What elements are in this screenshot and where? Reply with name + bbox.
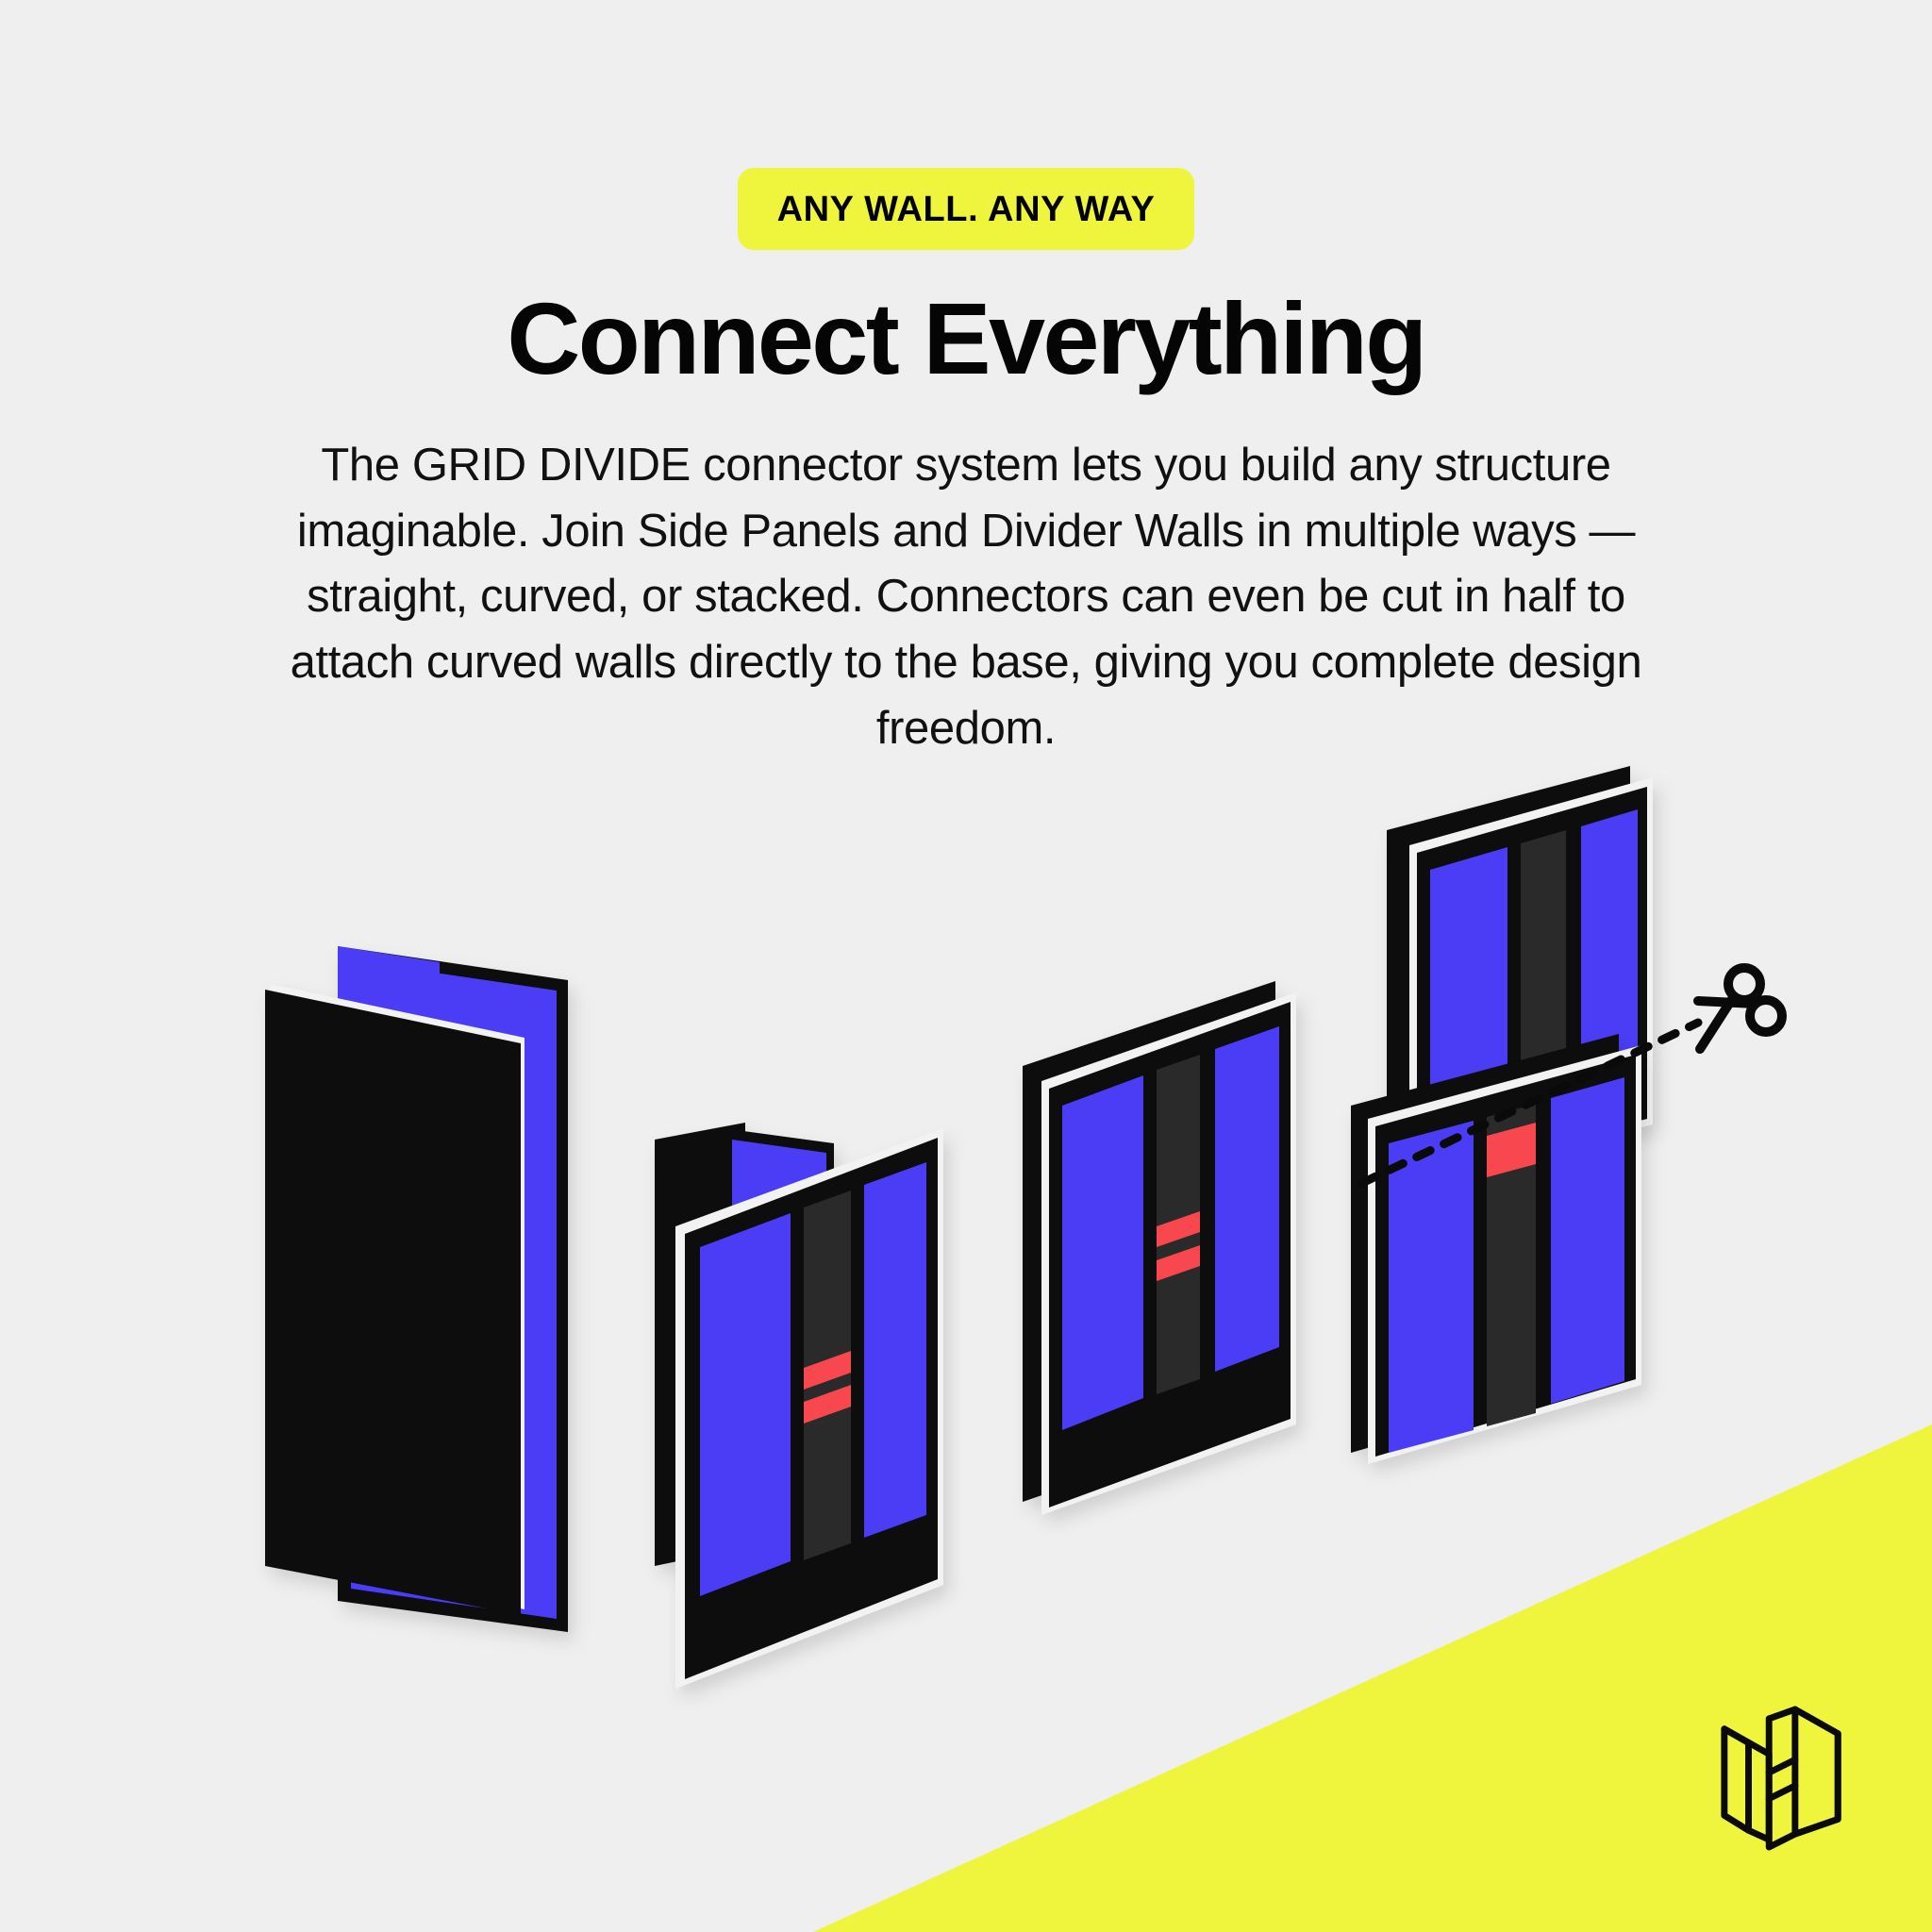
group4-upper-connector-strip <box>1521 830 1566 1151</box>
group4-lower-back-panel <box>1351 1034 1619 1453</box>
group4-upper-half <box>1387 766 1653 1185</box>
group3-red-marker-1 <box>1157 1211 1200 1247</box>
illustration-group-cut-connector <box>1351 766 1782 1464</box>
group3-panel-edge-highlight <box>1041 992 1296 1515</box>
group3-panel-frame <box>1049 1002 1291 1507</box>
illustration-group-stacked-panels <box>1023 981 1296 1515</box>
page-description: The GRID DIVIDE connector system lets yo… <box>277 433 1655 761</box>
group4-upper-edge-highlight <box>1409 777 1653 1185</box>
illustration-group-corner-joint <box>265 946 568 1632</box>
eyebrow-badge: ANY WALL. ANY WAY <box>738 168 1195 250</box>
group2-red-marker-2 <box>804 1385 851 1424</box>
header-block: ANY WALL. ANY WAY Connect Everything The… <box>0 0 1932 761</box>
group4-upper-back-panel <box>1387 766 1630 1170</box>
grid-divide-logo <box>1715 1700 1855 1858</box>
group4-red-marker-1 <box>1521 1058 1566 1113</box>
group2-rear-flap-frame <box>723 1128 834 1255</box>
group2-panel-frame <box>685 1138 938 1679</box>
group4-upper-frame <box>1417 787 1647 1177</box>
group3-left-blue-face <box>1062 1075 1143 1430</box>
group1-front-panel-edge-highlight <box>270 984 525 1609</box>
group3-connector-strip <box>1157 1055 1200 1394</box>
group4-red-marker-2 <box>1487 1123 1536 1177</box>
cut-line-dashed <box>1362 1023 1698 1183</box>
group3-red-marker-2 <box>1157 1245 1200 1281</box>
scissors-icon <box>1698 968 1782 1049</box>
group2-back-wall <box>655 1123 745 1566</box>
group2-red-marker-1 <box>804 1351 851 1390</box>
group4-lower-frame <box>1375 1055 1636 1457</box>
page-title: Connect Everything <box>0 286 1932 391</box>
group1-return-flap <box>338 946 440 1049</box>
poster-canvas: ANY WALL. ANY WAY Connect Everything The… <box>0 0 1932 1932</box>
group4-lower-right-blue-face <box>1551 1077 1624 1404</box>
badge-row: ANY WALL. ANY WAY <box>0 168 1932 250</box>
group1-rear-wall-frame <box>338 946 568 1632</box>
group3-right-blue-face <box>1215 1026 1279 1372</box>
group2-rear-flap-face <box>732 1140 826 1245</box>
group2-left-blue-face <box>700 1213 791 1596</box>
group2-right-blue-face <box>864 1162 926 1538</box>
group1-rear-wall-face <box>351 960 557 1619</box>
group4-upper-right-blue-face <box>1581 809 1638 1130</box>
illustration-group-straight-joint <box>655 1123 943 1689</box>
group2-panel-edge-highlight <box>675 1128 943 1689</box>
group4-lower-connector-strip <box>1487 1104 1536 1426</box>
group1-rear-wall-back-edge <box>338 956 566 1627</box>
group3-back-panel <box>1023 981 1275 1502</box>
group4-lower-half <box>1351 1034 1641 1464</box>
group1-front-panel-face <box>265 990 521 1615</box>
group4-upper-left-blue-face <box>1430 847 1507 1174</box>
group4-lower-left-blue-face <box>1389 1121 1474 1453</box>
group2-connector-strip <box>804 1191 851 1560</box>
group4-lower-edge-highlight <box>1368 1045 1641 1464</box>
